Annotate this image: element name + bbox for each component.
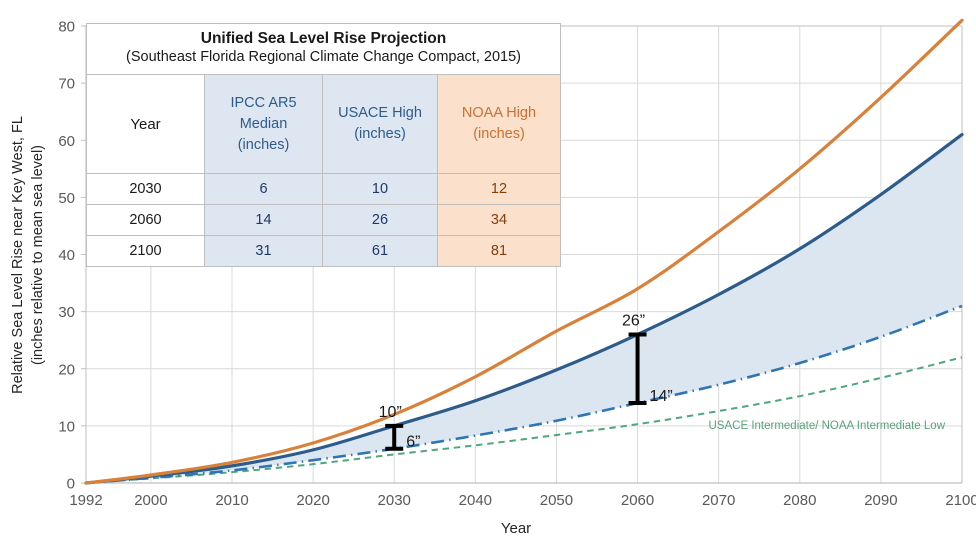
- header-ipcc-line3: (inches): [238, 137, 290, 153]
- annotation-2030-top-label: 10”: [379, 404, 402, 421]
- x-tick-2040: 2040: [459, 492, 492, 509]
- cell-usace-2100: 61: [323, 236, 438, 267]
- cell-noaa-2060: 34: [438, 205, 561, 236]
- intermediate-series-label: USACE Intermediate/ NOAA Intermediate Lo…: [709, 420, 946, 432]
- x-tick-2020: 2020: [296, 492, 329, 509]
- x-tick-2100: 2100: [945, 492, 976, 509]
- cell-usace-2030: 10: [323, 174, 438, 205]
- table-header-row: Year IPCC AR5 Median (inches) USACE High…: [87, 75, 561, 174]
- chart-root: 10”6”26”14” 0102030405060708019922000201…: [0, 0, 976, 549]
- table-row: 2100 31 61 81: [87, 236, 561, 267]
- header-noaa-line1: NOAA High: [462, 105, 536, 121]
- y-tick-30: 30: [58, 304, 75, 321]
- y-tick-70: 70: [58, 76, 75, 93]
- table-title-sub: (Southeast Florida Regional Climate Chan…: [91, 48, 556, 67]
- y-tick-50: 50: [58, 190, 75, 207]
- table-title-row: Unified Sea Level Rise Projection (South…: [87, 24, 561, 75]
- cell-year-2030: 2030: [87, 174, 205, 205]
- cell-ipcc-2060: 14: [205, 205, 323, 236]
- header-ipcc-ar5-median: IPCC AR5 Median (inches): [205, 75, 323, 174]
- header-noaa-line2: (inches): [473, 126, 525, 142]
- x-tick-2090: 2090: [864, 492, 897, 509]
- y-tick-20: 20: [58, 361, 75, 378]
- y-tick-10: 10: [58, 418, 75, 435]
- y-tick-80: 80: [58, 19, 75, 36]
- cell-year-2100: 2100: [87, 236, 205, 267]
- header-year: Year: [87, 75, 205, 174]
- projection-table: Unified Sea Level Rise Projection (South…: [86, 23, 561, 267]
- table-title-main: Unified Sea Level Rise Projection: [91, 29, 556, 48]
- y-tick-0: 0: [67, 476, 75, 493]
- table-row: 2030 6 10 12: [87, 174, 561, 205]
- x-tick-2030: 2030: [378, 492, 411, 509]
- header-usace-line1: USACE High: [338, 105, 422, 121]
- table-row: 2060 14 26 34: [87, 205, 561, 236]
- header-usace-high: USACE High (inches): [323, 75, 438, 174]
- cell-ipcc-2030: 6: [205, 174, 323, 205]
- cell-usace-2060: 26: [323, 205, 438, 236]
- cell-ipcc-2100: 31: [205, 236, 323, 267]
- header-noaa-high: NOAA High (inches): [438, 75, 561, 174]
- annotation-2060-top-label: 26”: [622, 312, 645, 329]
- cell-noaa-2100: 81: [438, 236, 561, 267]
- x-tick-2050: 2050: [540, 492, 573, 509]
- x-tick-2080: 2080: [783, 492, 816, 509]
- y-tick-40: 40: [58, 247, 75, 264]
- y-axis-title-line1: Relative Sea Level Rise near Key West, F…: [10, 116, 26, 394]
- y-axis-title-line2: (inches relative to mean sea level): [30, 145, 46, 365]
- x-tick-2010: 2010: [215, 492, 248, 509]
- cell-noaa-2030: 12: [438, 174, 561, 205]
- cell-year-2060: 2060: [87, 205, 205, 236]
- annotation-2030-bottom-label: 6”: [406, 434, 420, 451]
- header-ipcc-line1: IPCC AR5: [230, 95, 296, 111]
- x-axis-title: Year: [501, 520, 531, 537]
- header-usace-line2: (inches): [354, 126, 406, 142]
- annotation-2060-bottom-label: 14”: [650, 388, 673, 405]
- x-tick-2070: 2070: [702, 492, 735, 509]
- y-tick-60: 60: [58, 133, 75, 150]
- x-tick-1992: 1992: [69, 492, 102, 509]
- x-tick-2060: 2060: [621, 492, 654, 509]
- x-tick-2000: 2000: [134, 492, 167, 509]
- header-ipcc-line2: Median: [240, 116, 288, 132]
- table-title-cell: Unified Sea Level Rise Projection (South…: [87, 24, 561, 75]
